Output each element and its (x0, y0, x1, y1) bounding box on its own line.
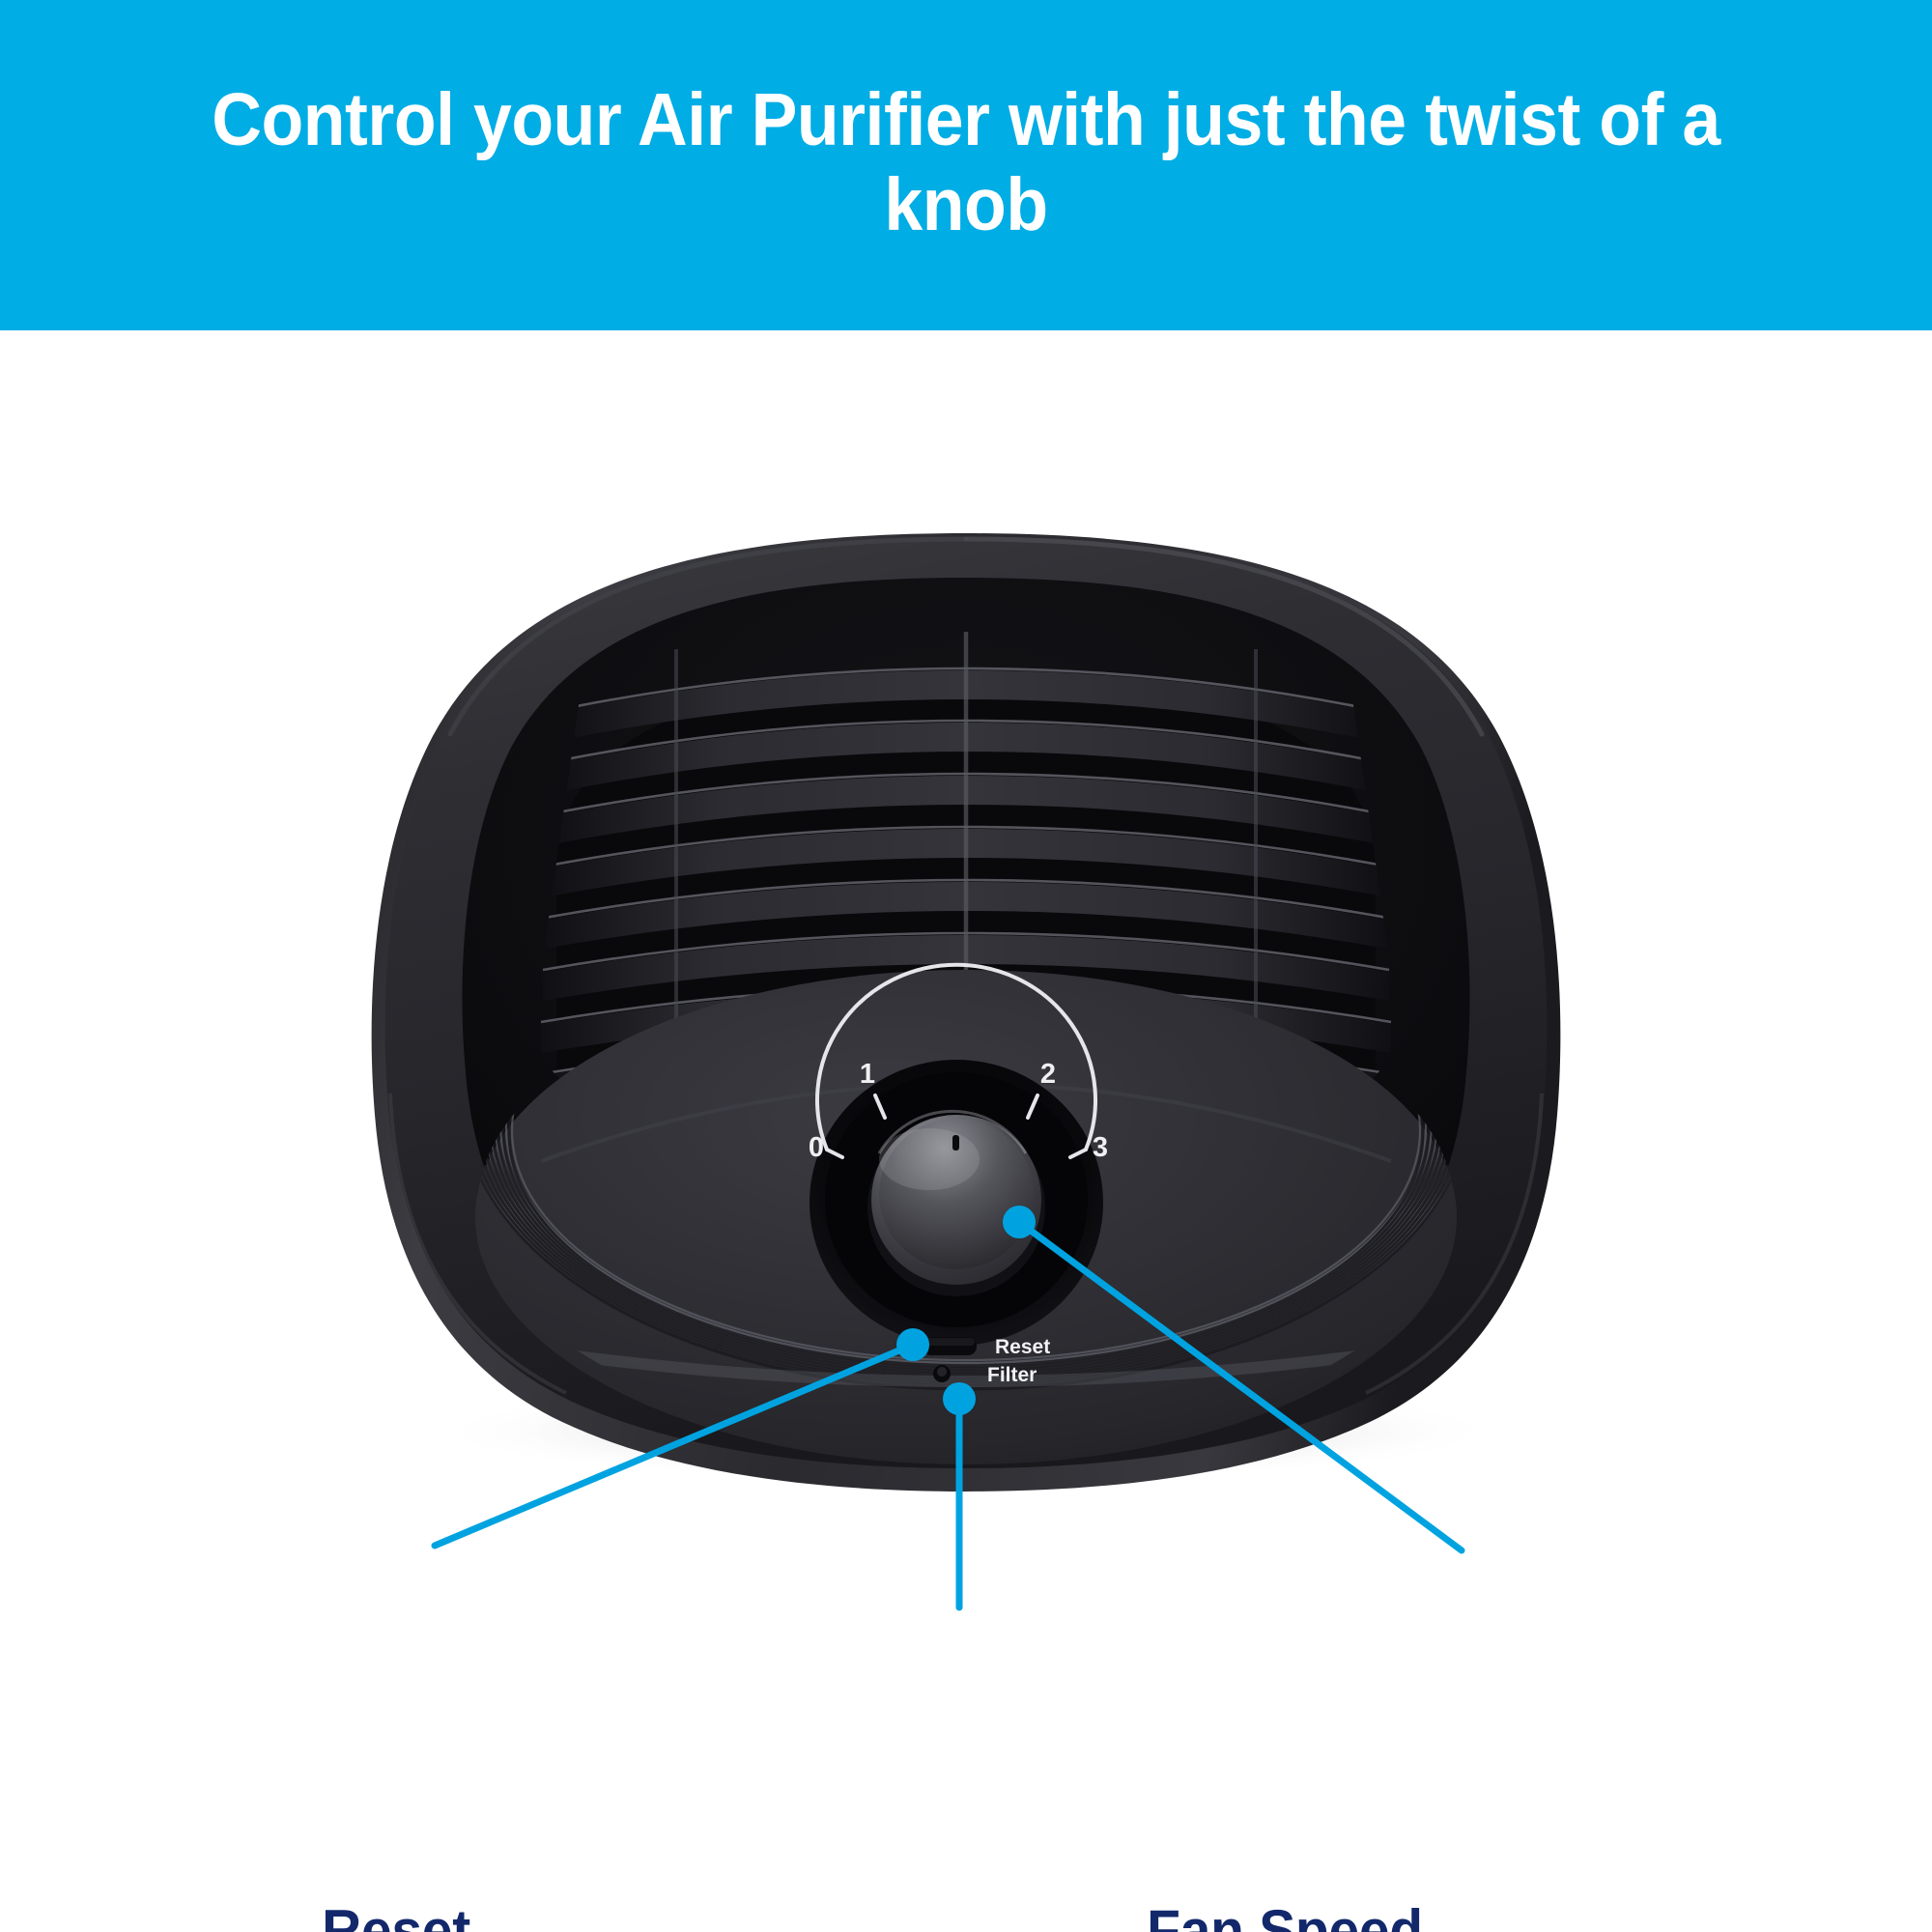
callout-dot-reset (896, 1328, 929, 1361)
knob-pointer-notch (952, 1135, 959, 1151)
dial-label-2: 2 (1040, 1059, 1056, 1090)
product-image-stage: 0 1 2 3 Reset (0, 330, 1932, 1932)
callout-dot-fanspeed (1003, 1206, 1036, 1238)
reset-button-label: Reset (995, 1336, 1050, 1358)
callout-label-reset: Reset (185, 1897, 608, 1932)
dial-label-3: 3 (1093, 1132, 1108, 1163)
callout-dot-filter (943, 1382, 976, 1415)
dial-label-1: 1 (860, 1059, 875, 1090)
header-banner: Control your Air Purifier with just the … (0, 0, 1932, 330)
callout-label-fan-speed: Fan Speed (982, 1897, 1588, 1932)
infographic-page: Control your Air Purifier with just the … (0, 0, 1932, 1932)
filter-indicator-label: Filter (987, 1364, 1037, 1386)
dial-label-0: 0 (809, 1132, 824, 1163)
air-purifier-illustration: 0 1 2 3 Reset (0, 330, 1932, 1932)
page-title: Control your Air Purifier with just the … (212, 78, 1720, 248)
